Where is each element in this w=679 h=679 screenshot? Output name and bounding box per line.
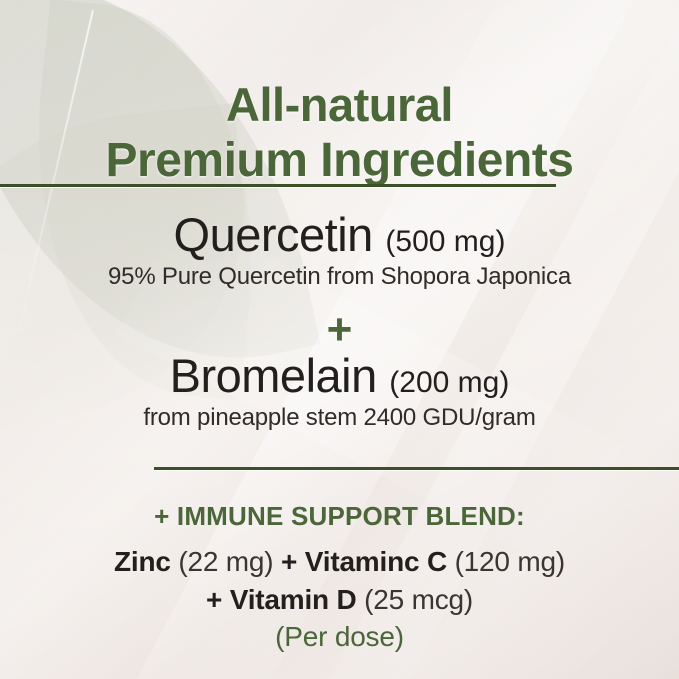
immune-support-blend-section: + IMMUNE SUPPORT BLEND: Zinc (22 mg) + V…: [0, 501, 679, 653]
blend-amount-vitamin-d: (25 mcg): [364, 584, 473, 615]
ingredient-name: Bromelain: [170, 349, 377, 402]
blend-amount-vitamin-c: (120 mg): [455, 546, 565, 577]
page-title: All-natural Premium Ingredients: [0, 78, 679, 188]
plus-separator-icon: +: [0, 308, 679, 352]
blend-item-vitamin-c: Vitaminc C: [305, 546, 447, 577]
blend-joiner-icon: +: [206, 584, 222, 615]
blend-joiner-icon: +: [281, 546, 297, 577]
ingredient-description: from pineapple stem 2400 GDU/gram: [0, 403, 679, 433]
blend-amount-zinc: (22 mg): [178, 546, 273, 577]
divider-top: [0, 184, 556, 187]
headline-line-2: Premium Ingredients: [0, 133, 679, 189]
poster-content: All-natural Premium Ingredients Querceti…: [0, 0, 679, 679]
ingredient-name: Quercetin: [174, 208, 373, 261]
blend-line-2: + Vitamin D (25 mcg): [0, 581, 679, 619]
ingredient-dose: (200 mg): [389, 366, 509, 399]
blend-item-vitamin-d: Vitamin D: [230, 584, 357, 615]
ingredient-description: 95% Pure Quercetin from Shopora Japonica: [0, 262, 679, 292]
blend-item-zinc: Zinc: [114, 546, 171, 577]
ingredient-dose: (500 mg): [385, 225, 505, 258]
ingredient-title-row: Quercetin (500 mg): [0, 210, 679, 261]
per-dose-note: (Per dose): [0, 621, 679, 653]
blend-title: + IMMUNE SUPPORT BLEND:: [0, 501, 679, 532]
headline-line-1: All-natural: [226, 78, 453, 131]
ingredient-title-row: Bromelain (200 mg): [0, 351, 679, 402]
divider-bottom: [154, 467, 679, 470]
ingredients-poster: All-natural Premium Ingredients Querceti…: [0, 0, 679, 679]
blend-line-1: Zinc (22 mg) + Vitaminc C (120 mg): [0, 543, 679, 581]
ingredient-bromelain: Bromelain (200 mg) from pineapple stem 2…: [0, 351, 679, 433]
ingredient-quercetin: Quercetin (500 mg) 95% Pure Quercetin fr…: [0, 210, 679, 292]
